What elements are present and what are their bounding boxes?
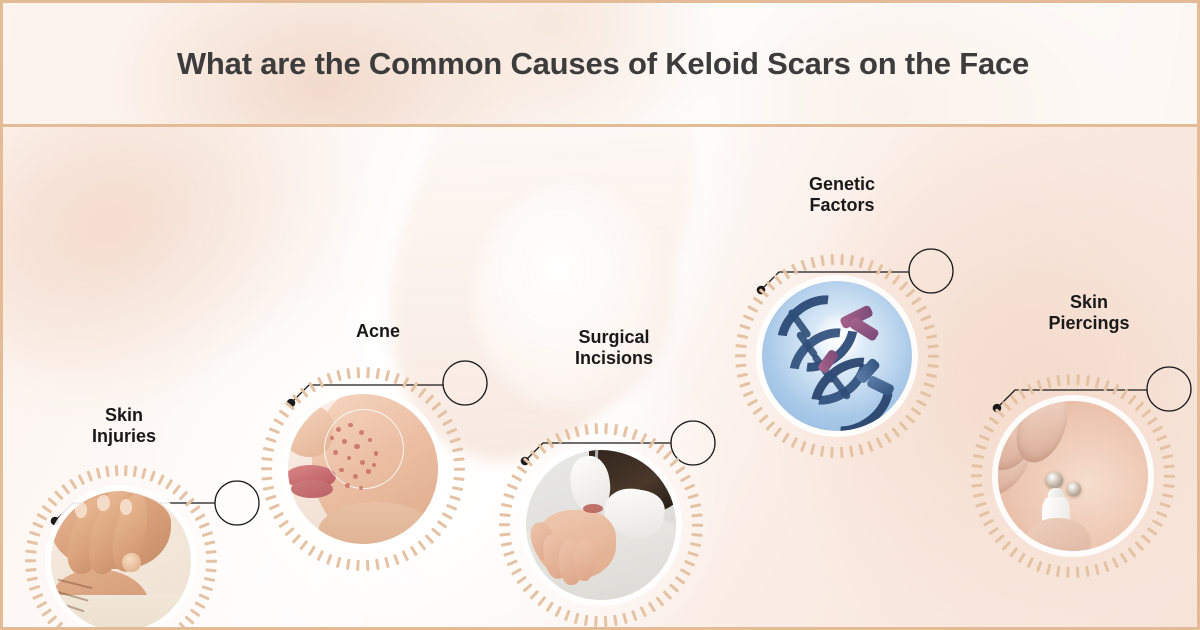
header-banner: What are the Common Causes of Keloid Sca… xyxy=(3,3,1200,127)
page-title: What are the Common Causes of Keloid Sca… xyxy=(58,44,1148,83)
infographic-poster: What are the Common Causes of Keloid Sca… xyxy=(0,0,1200,630)
acne-face-photo xyxy=(288,394,438,544)
hand-injury-photo xyxy=(51,491,191,630)
photo-skin-injuries xyxy=(51,491,191,630)
photo-acne xyxy=(288,394,438,544)
item-label-genetic-factors: Genetic Factors xyxy=(777,174,907,216)
photo-skin-piercings xyxy=(998,401,1148,551)
item-label-skin-piercings: Skin Piercings xyxy=(1019,292,1159,334)
dna-helix-photo xyxy=(762,281,912,431)
photo-surgical-incisions xyxy=(526,450,676,600)
item-label-surgical-incisions: Surgical Incisions xyxy=(549,327,679,369)
item-label-skin-injuries: Skin Injuries xyxy=(59,405,189,447)
item-label-acne: Acne xyxy=(323,321,433,342)
item-skin-piercings[interactable]: Skin Piercings xyxy=(975,272,1197,572)
surgery-incision-photo xyxy=(526,450,676,600)
skin-piercing-photo xyxy=(998,401,1148,551)
photo-genetic-factors xyxy=(762,281,912,431)
main-canvas: Skin Injuries xyxy=(3,127,1197,630)
